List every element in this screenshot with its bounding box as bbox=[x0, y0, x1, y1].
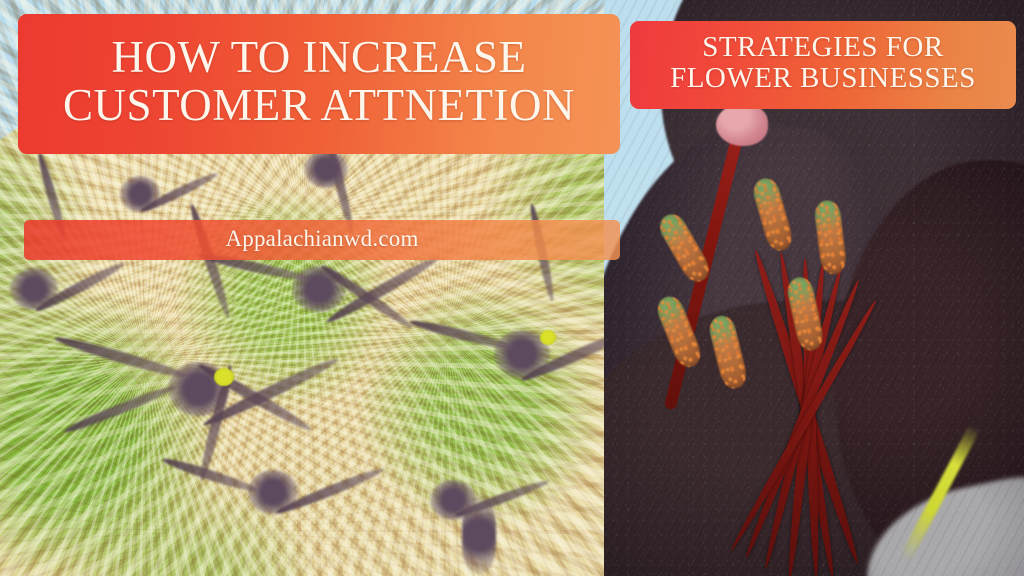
subtitle-line-2: FLOWER BUSINESSES bbox=[670, 62, 976, 94]
website-url: Appalachianwd.com bbox=[225, 227, 418, 251]
subtitle-banner: STRATEGIES FOR FLOWER BUSINESSES bbox=[630, 21, 1016, 109]
main-title-line-1: HOW TO INCREASE bbox=[111, 32, 526, 82]
lily-stigma bbox=[716, 104, 768, 146]
main-title-banner: HOW TO INCREASE CUSTOMER ATTNETION bbox=[18, 14, 620, 154]
main-title-line-2: CUSTOMER ATTNETION bbox=[63, 82, 575, 130]
website-banner: Appalachianwd.com bbox=[24, 220, 620, 260]
promo-poster: HOW TO INCREASE CUSTOMER ATTNETION STRAT… bbox=[0, 0, 1024, 576]
subtitle-line-1: STRATEGIES FOR bbox=[702, 31, 943, 63]
